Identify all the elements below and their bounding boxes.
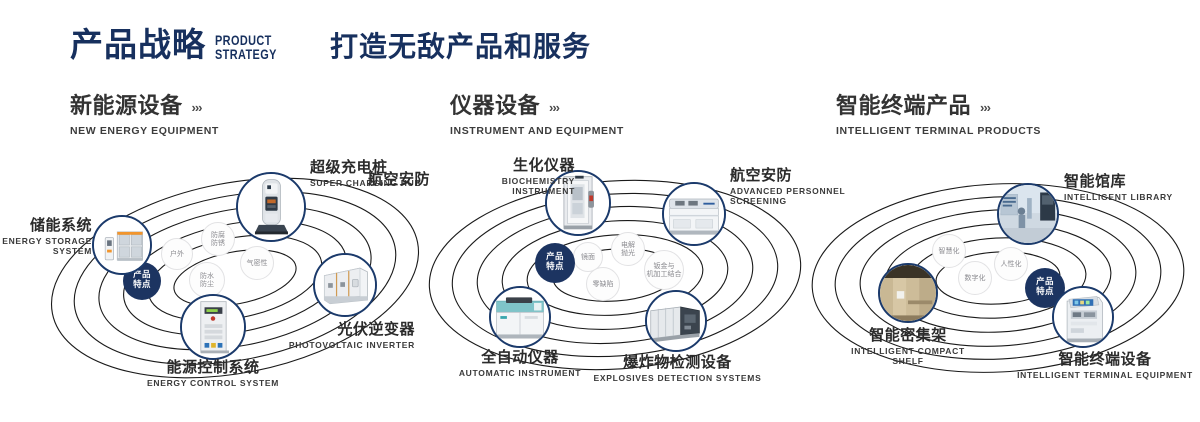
caption-energy-storage-system: 储能系统 ENERGY STORAGESYSTEM bbox=[0, 218, 92, 257]
explosives-detection-systems-image bbox=[647, 292, 705, 350]
chevron-right-icons: ››› bbox=[549, 100, 559, 115]
caption-intelligent-compact-shelf: 智能密集架 INTELLIGENT COMPACTSHELF bbox=[818, 328, 998, 367]
cluster-instrument-and-equipment: 镜面 电解 抛光 钣金与 机加工结合 零缺陷 产品 特点 bbox=[415, 150, 815, 415]
chevron-right-icons: ››› bbox=[980, 100, 990, 115]
caption-en: ENERGY CONTROL SYSTEM bbox=[123, 378, 303, 389]
node-energy-storage-system[interactable] bbox=[92, 215, 152, 275]
section-title-en: NEW ENERGY EQUIPMENT bbox=[70, 125, 219, 137]
node-intelligent-compact-shelf[interactable] bbox=[878, 263, 938, 323]
feature-bubble: 智慧化 bbox=[932, 234, 966, 268]
section-title-cn: 仪器设备 bbox=[450, 96, 540, 118]
cluster-new-energy-equipment: 防腐 防锈 户外 气密性 防水 防尘 产品 特点 bbox=[35, 150, 435, 415]
caption-photovoltaic-inverter: 光伏逆变器 PHOTOVOLTAIC INVERTER bbox=[275, 322, 415, 350]
cluster-intelligent-terminal-products: 智慧化 数字化 人性化 产品 特点 bbox=[800, 150, 1200, 415]
chevron-right-icons: ››› bbox=[192, 100, 202, 115]
advanced-personnel-screening-image bbox=[664, 184, 724, 244]
caption-en: INTELLIGENT COMPACTSHELF bbox=[818, 346, 998, 367]
node-intelligent-library[interactable] bbox=[997, 183, 1059, 245]
page-title-english: PRODUCT STRATEGY bbox=[215, 33, 277, 61]
feature-bubble: 电解 抛光 bbox=[611, 232, 645, 266]
section-header-new-energy-equipment: 新能源设备››› NEW ENERGY EQUIPMENT bbox=[70, 96, 219, 137]
caption-en: INTELLIGENT LIBRARY bbox=[1064, 192, 1173, 203]
node-advanced-personnel-screening[interactable] bbox=[662, 182, 726, 246]
node-automatic-instrument[interactable] bbox=[489, 286, 551, 348]
caption-automatic-instrument: 全自动仪器 AUTOMATIC INSTRUMENT bbox=[430, 350, 610, 378]
node-explosives-detection-systems[interactable] bbox=[645, 290, 707, 352]
page-title-english-line2: STRATEGY bbox=[215, 47, 277, 61]
intelligent-library-image bbox=[999, 185, 1057, 243]
product-strategy-infographic: 产品战略 PRODUCT STRATEGY 打造无敌产品和服务 新能源设备›››… bbox=[0, 0, 1200, 422]
energy-storage-system-image bbox=[94, 217, 150, 273]
feature-bubble: 户外 bbox=[161, 238, 193, 270]
caption-en: ENERGY STORAGESYSTEM bbox=[0, 236, 92, 257]
node-super-charging-hub[interactable] bbox=[236, 172, 306, 242]
page-slogan: 打造无敌产品和服务 bbox=[330, 33, 591, 61]
caption-en: AUTOMATIC INSTRUMENT bbox=[430, 368, 610, 379]
node-energy-control-system[interactable] bbox=[180, 294, 246, 360]
page-title-english-line1: PRODUCT bbox=[215, 33, 277, 47]
node-intelligent-terminal-equipment[interactable] bbox=[1052, 286, 1114, 348]
feature-bubble: 钣金与 机加工结合 bbox=[644, 250, 684, 290]
page-title: 产品战略 bbox=[70, 28, 206, 61]
caption-aviation-security: 航空安防 bbox=[320, 172, 430, 188]
feature-bubble: 防腐 防锈 bbox=[201, 222, 235, 256]
section-title-en: INSTRUMENT AND EQUIPMENT bbox=[450, 125, 624, 137]
section-title-en: INTELLIGENT TERMINAL PRODUCTS bbox=[836, 125, 1041, 137]
node-photovoltaic-inverter[interactable] bbox=[313, 253, 377, 317]
caption-en: PHOTOVOLTAIC INVERTER bbox=[275, 340, 415, 351]
caption-en: INTELLIGENT TERMINAL EQUIPMENT bbox=[1010, 370, 1200, 381]
section-header-instrument-and-equipment: 仪器设备››› INSTRUMENT AND EQUIPMENT bbox=[450, 96, 624, 137]
energy-control-system-image bbox=[182, 296, 244, 358]
automatic-instrument-image bbox=[491, 288, 549, 346]
caption-energy-control-system: 能源控制系统 ENERGY CONTROL SYSTEM bbox=[123, 360, 303, 388]
section-title-cn: 新能源设备 bbox=[70, 96, 183, 118]
feature-bubble: 人性化 bbox=[994, 247, 1028, 281]
feature-bubble: 气密性 bbox=[240, 246, 274, 280]
section-title-cn: 智能终端产品 bbox=[836, 96, 971, 118]
product-features-badge: 产品 特点 bbox=[535, 243, 575, 283]
caption-en: EXPLOSIVES DETECTION SYSTEMS bbox=[585, 373, 770, 384]
caption-biochemistry-instrument: 生化仪器 BIOCHEMISTRYINSTRUMENT bbox=[405, 158, 575, 197]
super-charging-hub-image bbox=[238, 174, 304, 240]
caption-intelligent-library: 智能馆库 INTELLIGENT LIBRARY bbox=[1064, 174, 1173, 202]
intelligent-terminal-equipment-image bbox=[1054, 288, 1112, 346]
caption-explosives-detection-systems: 爆炸物检测设备 EXPLOSIVES DETECTION SYSTEMS bbox=[585, 355, 770, 383]
photovoltaic-inverter-image bbox=[315, 255, 375, 315]
feature-bubble: 防水 防尘 bbox=[189, 262, 225, 298]
section-header-intelligent-terminal-products: 智能终端产品››› INTELLIGENT TERMINAL PRODUCTS bbox=[836, 96, 1041, 137]
intelligent-compact-shelf-image bbox=[880, 265, 936, 321]
caption-intelligent-terminal-equipment: 智能终端设备 INTELLIGENT TERMINAL EQUIPMENT bbox=[1010, 352, 1200, 380]
caption-en: BIOCHEMISTRYINSTRUMENT bbox=[405, 176, 575, 197]
feature-bubble: 数字化 bbox=[958, 261, 992, 295]
feature-bubble: 零缺陷 bbox=[586, 267, 620, 301]
